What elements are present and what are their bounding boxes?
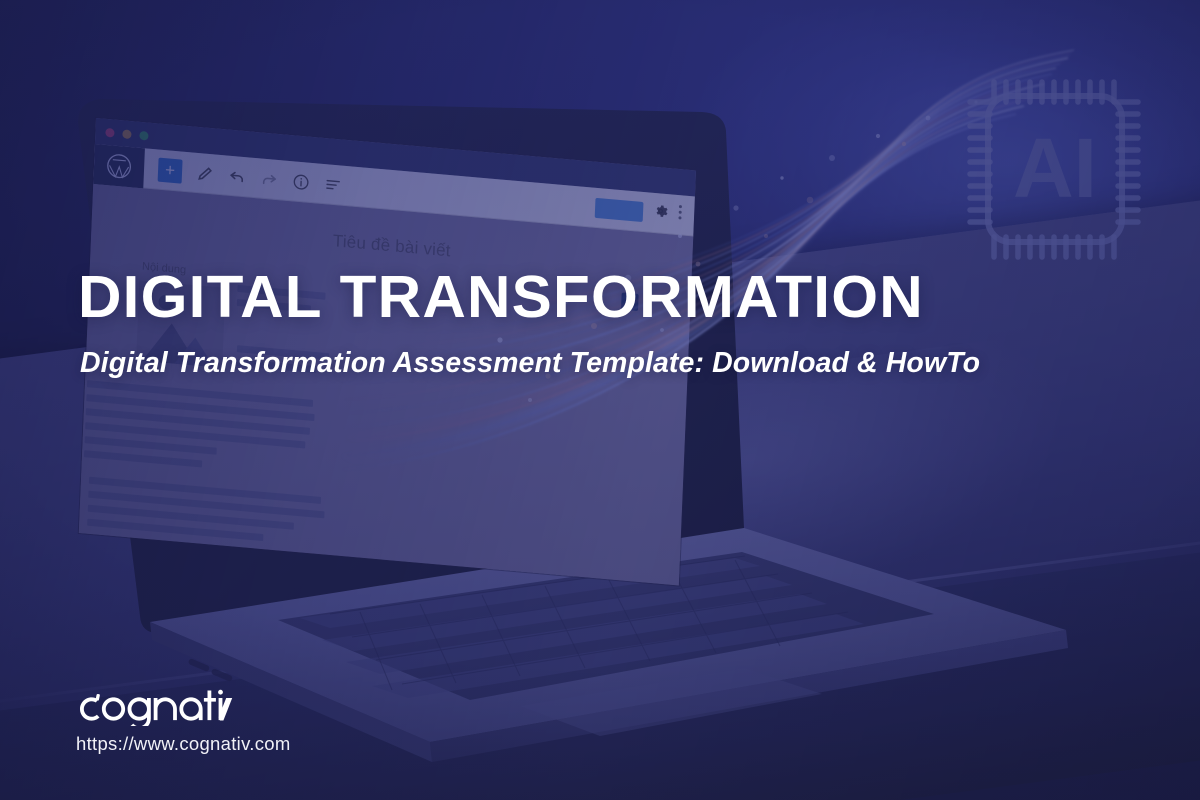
page-title: DIGITAL TRANSFORMATION (78, 268, 924, 327)
website-url[interactable]: https://www.cognativ.com (76, 733, 291, 755)
hero-content: DIGITAL TRANSFORMATION Digital Transform… (0, 0, 1200, 800)
cognativ-wordmark (74, 686, 236, 726)
page-subtitle: Digital Transformation Assessment Templa… (80, 343, 1060, 383)
banner-canvas: + (0, 0, 1200, 800)
